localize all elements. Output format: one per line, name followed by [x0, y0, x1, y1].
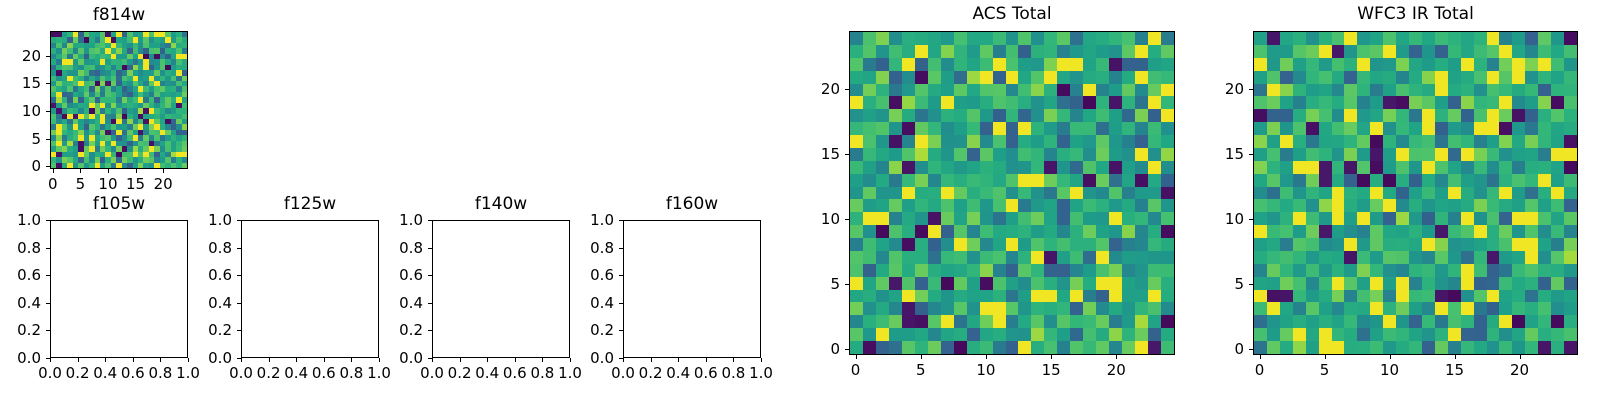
heatmap-cell [1161, 315, 1174, 328]
heatmap-cell [1332, 302, 1345, 315]
heatmap-cell [1135, 290, 1148, 303]
heatmap-cell [1161, 45, 1174, 58]
heatmap-cell [993, 174, 1006, 187]
heatmap-cell [1461, 238, 1474, 251]
heatmap-cell [1409, 32, 1422, 45]
heatmap-cell [1396, 32, 1409, 45]
heatmap-cell [1487, 148, 1500, 161]
heatmap-cell [1267, 148, 1280, 161]
heatmap-cell [1538, 58, 1551, 71]
heatmap-cell [1109, 109, 1122, 122]
heatmap-cell [1564, 315, 1577, 328]
heatmap-cell [1083, 290, 1096, 303]
heatmap-cell [1319, 315, 1332, 328]
heatmap-cell [1044, 174, 1057, 187]
y-tick-label-acs: 20 [821, 80, 840, 98]
y-tick-mark [46, 56, 50, 57]
heatmap-cell [1551, 109, 1564, 122]
heatmap-cell [1344, 328, 1357, 341]
heatmap-cell [1267, 199, 1280, 212]
y-tick-label-f160w: 0.8 [590, 239, 614, 257]
y-tick-label-f140w: 0.4 [399, 294, 423, 312]
heatmap-cell [915, 84, 928, 97]
heatmap-cell [1006, 315, 1019, 328]
heatmap-cell [889, 328, 902, 341]
heatmap-cell [1551, 58, 1564, 71]
heatmap-cell [863, 71, 876, 84]
matplotlib-figure: f814w 0510152005101520 f105w 0.00.20.40.… [0, 0, 1600, 400]
x-tick-mark [163, 169, 164, 173]
heatmap-cell [1538, 302, 1551, 315]
heatmap-cell [954, 58, 967, 71]
heatmap-cell [1083, 225, 1096, 238]
heatmap-cell [1435, 199, 1448, 212]
heatmap-cell [1551, 315, 1564, 328]
heatmap-cell [1461, 174, 1474, 187]
x-tick-mark [651, 358, 652, 362]
y-tick-mark [428, 303, 432, 304]
heatmap-cell [1448, 212, 1461, 225]
heatmap-cell [1319, 341, 1332, 354]
heatmap-cell [1332, 122, 1345, 135]
x-tick-label-f125w: 0.6 [312, 364, 336, 382]
heatmap-cell [1161, 341, 1174, 354]
x-tick-label-f125w: 0.4 [284, 364, 308, 382]
heatmap-cell [1018, 264, 1031, 277]
heatmap-cell [1383, 225, 1396, 238]
heatmap-cell [1422, 212, 1435, 225]
heatmap-cell [1031, 315, 1044, 328]
heatmap-cell [1057, 32, 1070, 45]
heatmap-cell [1161, 199, 1174, 212]
heatmap-cell [1109, 341, 1122, 354]
y-tick-label-f125w: 0.2 [208, 321, 232, 339]
heatmap-cell [1499, 238, 1512, 251]
heatmap-cell [1109, 148, 1122, 161]
heatmap-cell [1474, 135, 1487, 148]
heatmap-cell [1135, 238, 1148, 251]
heatmap-cell [1254, 199, 1267, 212]
heatmap-cell [1512, 135, 1525, 148]
heatmap-cell [1396, 174, 1409, 187]
heatmap-cell [1344, 187, 1357, 200]
heatmap-cell [1332, 225, 1345, 238]
heatmap-cell [850, 290, 863, 303]
heatmap-cell [993, 302, 1006, 315]
y-tick-mark [237, 303, 241, 304]
heatmap-cell [1551, 199, 1564, 212]
heatmap-cell [1448, 277, 1461, 290]
heatmap-cell [1057, 109, 1070, 122]
heatmap-cell [1280, 225, 1293, 238]
heatmap-cell [1254, 71, 1267, 84]
heatmap-cell [1435, 225, 1448, 238]
x-tick-mark [515, 358, 516, 362]
heatmap-cell [1254, 45, 1267, 58]
heatmap-cell [1487, 84, 1500, 97]
heatmap-cell [889, 341, 902, 354]
heatmap-cell [1267, 290, 1280, 303]
heatmap-cell [1461, 187, 1474, 200]
heatmap-cell [1538, 135, 1551, 148]
heatmap-cell [1409, 58, 1422, 71]
heatmap-cell [1396, 45, 1409, 58]
heatmap-cell [1254, 32, 1267, 45]
heatmap-cell [980, 212, 993, 225]
heatmap-cell [1538, 109, 1551, 122]
heatmap-cell [1070, 225, 1083, 238]
y-tick-label-f140w: 1.0 [399, 211, 423, 229]
heatmap-cell [1370, 96, 1383, 109]
heatmap-cell [1044, 238, 1057, 251]
heatmap-cell [1512, 302, 1525, 315]
panel-title-acs-total: ACS Total [849, 4, 1175, 24]
heatmap-cell [1409, 96, 1422, 109]
heatmap-cell [1435, 58, 1448, 71]
heatmap-cell [1006, 290, 1019, 303]
heatmap-cell [1525, 264, 1538, 277]
heatmap-cell [1083, 45, 1096, 58]
heatmap-cell [1044, 277, 1057, 290]
heatmap-cell [1409, 199, 1422, 212]
heatmap-cell [1332, 315, 1345, 328]
axes-f105w[interactable] [50, 220, 188, 358]
axes-wfc3-ir-total[interactable] [1253, 31, 1578, 355]
heatmap-cell [1474, 96, 1487, 109]
heatmap-cell [941, 45, 954, 58]
heatmap-cell [1293, 315, 1306, 328]
heatmap-cell [1357, 161, 1370, 174]
heatmap-cell [993, 161, 1006, 174]
heatmap-cell [1396, 96, 1409, 109]
heatmap-cell [1122, 302, 1135, 315]
heatmap-cell [967, 264, 980, 277]
heatmap-cell [1357, 315, 1370, 328]
heatmap-cell [1280, 264, 1293, 277]
heatmap-cell [993, 122, 1006, 135]
heatmap-cell [1487, 71, 1500, 84]
heatmap-cell [1044, 45, 1057, 58]
heatmap-cell [1499, 212, 1512, 225]
heatmap-cell [902, 45, 915, 58]
heatmap-cell [1370, 199, 1383, 212]
heatmap-cell [1096, 264, 1109, 277]
heatmap-cell [1254, 290, 1267, 303]
axes-acs-total[interactable] [849, 31, 1175, 355]
axes-f125w[interactable] [241, 220, 379, 358]
heatmap-cell [850, 174, 863, 187]
axes-f814w[interactable] [50, 31, 188, 169]
heatmap-cell [993, 135, 1006, 148]
heatmap-cell [915, 187, 928, 200]
heatmap-cell [993, 212, 1006, 225]
heatmap-cell [928, 58, 941, 71]
heatmap-cell [1422, 264, 1435, 277]
heatmap-cell [1512, 264, 1525, 277]
x-tick-mark [623, 358, 624, 362]
heatmap-cell [1383, 148, 1396, 161]
x-tick-mark [1116, 355, 1117, 359]
heatmap-cell [1293, 71, 1306, 84]
axes-f140w[interactable] [432, 220, 570, 358]
heatmap-cell [1551, 96, 1564, 109]
heatmap-cell [1096, 32, 1109, 45]
heatmap-cell [1070, 71, 1083, 84]
heatmap-cell [1332, 161, 1345, 174]
heatmap-cell [1254, 187, 1267, 200]
heatmap-cell [1148, 199, 1161, 212]
heatmap-cell [1487, 45, 1500, 58]
heatmap-cell [902, 251, 915, 264]
heatmap-cell [941, 212, 954, 225]
heatmap-cell [1161, 84, 1174, 97]
heatmap-cell [1280, 122, 1293, 135]
heatmap-cell [1044, 58, 1057, 71]
heatmap-cell [1474, 238, 1487, 251]
heatmap-cell [182, 163, 187, 168]
heatmap-cell [928, 122, 941, 135]
x-tick-label-f125w: 0.0 [229, 364, 253, 382]
heatmap-cell [1383, 264, 1396, 277]
heatmap-cell [876, 32, 889, 45]
heatmap-cell [1135, 174, 1148, 187]
heatmap-cell [1551, 277, 1564, 290]
heatmap-cell [1370, 264, 1383, 277]
x-tick-mark [1325, 355, 1326, 359]
heatmap-cell [1018, 71, 1031, 84]
y-tick-label-f125w: 0.6 [208, 266, 232, 284]
heatmap-cell [1396, 199, 1409, 212]
heatmap-cell [1319, 277, 1332, 290]
y-tick-mark [845, 349, 849, 350]
heatmap-cell [1031, 45, 1044, 58]
heatmap-cell [954, 277, 967, 290]
heatmap-cell [1564, 45, 1577, 58]
heatmap-cell [1396, 290, 1409, 303]
heatmap-cell [902, 302, 915, 315]
heatmap-cell [980, 225, 993, 238]
heatmap-cell [1161, 96, 1174, 109]
heatmap-cell [1122, 148, 1135, 161]
heatmap-cell [1525, 71, 1538, 84]
heatmap-cell [1357, 96, 1370, 109]
heatmap-cell [967, 290, 980, 303]
axes-f160w[interactable] [623, 220, 761, 358]
heatmap-cell [850, 199, 863, 212]
heatmap-cell [1070, 109, 1083, 122]
heatmap-cell [1267, 174, 1280, 187]
heatmap-cell [1135, 199, 1148, 212]
x-tick-mark [460, 358, 461, 362]
heatmap-cell [1267, 96, 1280, 109]
heatmap-cell [1306, 32, 1319, 45]
heatmap-cell [1525, 32, 1538, 45]
heatmap-cell [1396, 302, 1409, 315]
heatmap-cell [1280, 32, 1293, 45]
heatmap-cell [1122, 341, 1135, 354]
heatmap-cell [1487, 251, 1500, 264]
heatmap-cell [1057, 225, 1070, 238]
heatmap-cell [902, 212, 915, 225]
heatmap-cell [1383, 238, 1396, 251]
heatmap-cell [1383, 96, 1396, 109]
heatmap-cell [1538, 290, 1551, 303]
heatmap-cell [1148, 148, 1161, 161]
heatmap-cell [1319, 84, 1332, 97]
heatmap-cell [1461, 315, 1474, 328]
heatmap-cell [1044, 135, 1057, 148]
heatmap-cell [1461, 96, 1474, 109]
heatmap-cell [863, 109, 876, 122]
y-tick-label-wfc3: 10 [1225, 210, 1244, 228]
heatmap-cell [980, 251, 993, 264]
heatmap-cell [850, 225, 863, 238]
heatmap-cell [1267, 315, 1280, 328]
heatmap-cell [1409, 161, 1422, 174]
heatmap-cell [1280, 187, 1293, 200]
heatmap-cell [1293, 109, 1306, 122]
heatmap-cell [1044, 32, 1057, 45]
heatmap-cell [1448, 302, 1461, 315]
heatmap-cell [928, 302, 941, 315]
heatmap-cell [1031, 109, 1044, 122]
heatmap-cell [902, 174, 915, 187]
y-tick-label-f105w: 0.4 [17, 294, 41, 312]
y-tick-mark [46, 358, 50, 359]
heatmap-cell [1487, 328, 1500, 341]
heatmap-cell [1006, 45, 1019, 58]
heatmap-cell [915, 135, 928, 148]
heatmap-cell [1280, 58, 1293, 71]
heatmap-cell [915, 212, 928, 225]
heatmap-cell [1499, 45, 1512, 58]
heatmap-cell [1096, 148, 1109, 161]
heatmap-cell [1474, 161, 1487, 174]
heatmap-cell [1044, 148, 1057, 161]
heatmap-cell [1096, 109, 1109, 122]
heatmap-cell [1435, 135, 1448, 148]
heatmap-cell [1383, 212, 1396, 225]
heatmap-cell [1332, 264, 1345, 277]
heatmap-cell [1006, 174, 1019, 187]
heatmap-cell [1435, 251, 1448, 264]
heatmap-cell [1293, 328, 1306, 341]
heatmap-cell [1070, 341, 1083, 354]
heatmap-cell [1487, 264, 1500, 277]
heatmap-cell [1306, 341, 1319, 354]
heatmap-cell [928, 315, 941, 328]
heatmap-cell [1525, 302, 1538, 315]
heatmap-cell [915, 238, 928, 251]
heatmap-cell [1344, 32, 1357, 45]
x-tick-label-wfc3: 15 [1445, 361, 1464, 379]
heatmap-cell [1122, 161, 1135, 174]
heatmap-cell [876, 251, 889, 264]
x-tick-mark [706, 358, 707, 362]
heatmap-cell [1461, 302, 1474, 315]
heatmap-cell [1512, 109, 1525, 122]
y-tick-mark [1249, 284, 1253, 285]
heatmap-cell [1070, 84, 1083, 97]
heatmap-cell [1370, 328, 1383, 341]
heatmap-cell [1293, 212, 1306, 225]
heatmap-cell [863, 290, 876, 303]
heatmap-cell [1422, 199, 1435, 212]
heatmap-cell [1332, 199, 1345, 212]
heatmap-cell [1383, 315, 1396, 328]
heatmap-cell [889, 315, 902, 328]
heatmap-cell [1083, 58, 1096, 71]
y-tick-label-f140w: 0.2 [399, 321, 423, 339]
heatmap-cell [1344, 174, 1357, 187]
x-tick-label-wfc3: 10 [1380, 361, 1399, 379]
heatmap-cell [1448, 328, 1461, 341]
heatmap-cell [1057, 302, 1070, 315]
heatmap-cell [1148, 315, 1161, 328]
heatmap-cell [1096, 174, 1109, 187]
heatmap-cell [1096, 290, 1109, 303]
heatmap-cell [1083, 264, 1096, 277]
x-tick-label-wfc3: 0 [1255, 361, 1265, 379]
heatmap-cell [1109, 315, 1122, 328]
heatmap-cell [876, 148, 889, 161]
heatmap-cell [1057, 71, 1070, 84]
heatmap-cell [1448, 109, 1461, 122]
heatmap-cell [1148, 238, 1161, 251]
heatmap-cell [1396, 122, 1409, 135]
heatmap-cell [1422, 328, 1435, 341]
heatmap-cell [1070, 290, 1083, 303]
heatmap-cell [1538, 225, 1551, 238]
heatmap-cell [1512, 277, 1525, 290]
heatmap-cell [1564, 109, 1577, 122]
heatmap-cell [1293, 199, 1306, 212]
heatmap-cell [1057, 187, 1070, 200]
heatmap-cell [1267, 264, 1280, 277]
heatmap-cell [941, 109, 954, 122]
heatmap-cell [941, 161, 954, 174]
heatmap-cell [1487, 302, 1500, 315]
heatmap-cell [941, 264, 954, 277]
heatmap-cell [1538, 148, 1551, 161]
y-tick-mark [845, 154, 849, 155]
heatmap-cell [1512, 251, 1525, 264]
heatmap-cell [1267, 135, 1280, 148]
heatmap-cell [1396, 251, 1409, 264]
heatmap-cell [1344, 84, 1357, 97]
heatmap-cell [1031, 174, 1044, 187]
heatmap-cell [928, 32, 941, 45]
heatmap-cell [1148, 251, 1161, 264]
heatmap-cell [1344, 199, 1357, 212]
heatmap-cell [967, 315, 980, 328]
heatmap-cell [1487, 341, 1500, 354]
heatmap-cell [1083, 161, 1096, 174]
heatmap-cell [954, 109, 967, 122]
heatmap-cell [967, 341, 980, 354]
heatmap-cell [915, 341, 928, 354]
heatmap-cell [1306, 135, 1319, 148]
heatmap-cell [1135, 84, 1148, 97]
heatmap-cell [1551, 251, 1564, 264]
heatmap-cell [1357, 341, 1370, 354]
x-tick-label-f814w: 15 [126, 175, 145, 193]
heatmap-cell [1564, 264, 1577, 277]
heatmap-cell [1564, 199, 1577, 212]
heatmap-cell [1512, 212, 1525, 225]
heatmap-cell [1461, 71, 1474, 84]
heatmap-cell [1487, 212, 1500, 225]
